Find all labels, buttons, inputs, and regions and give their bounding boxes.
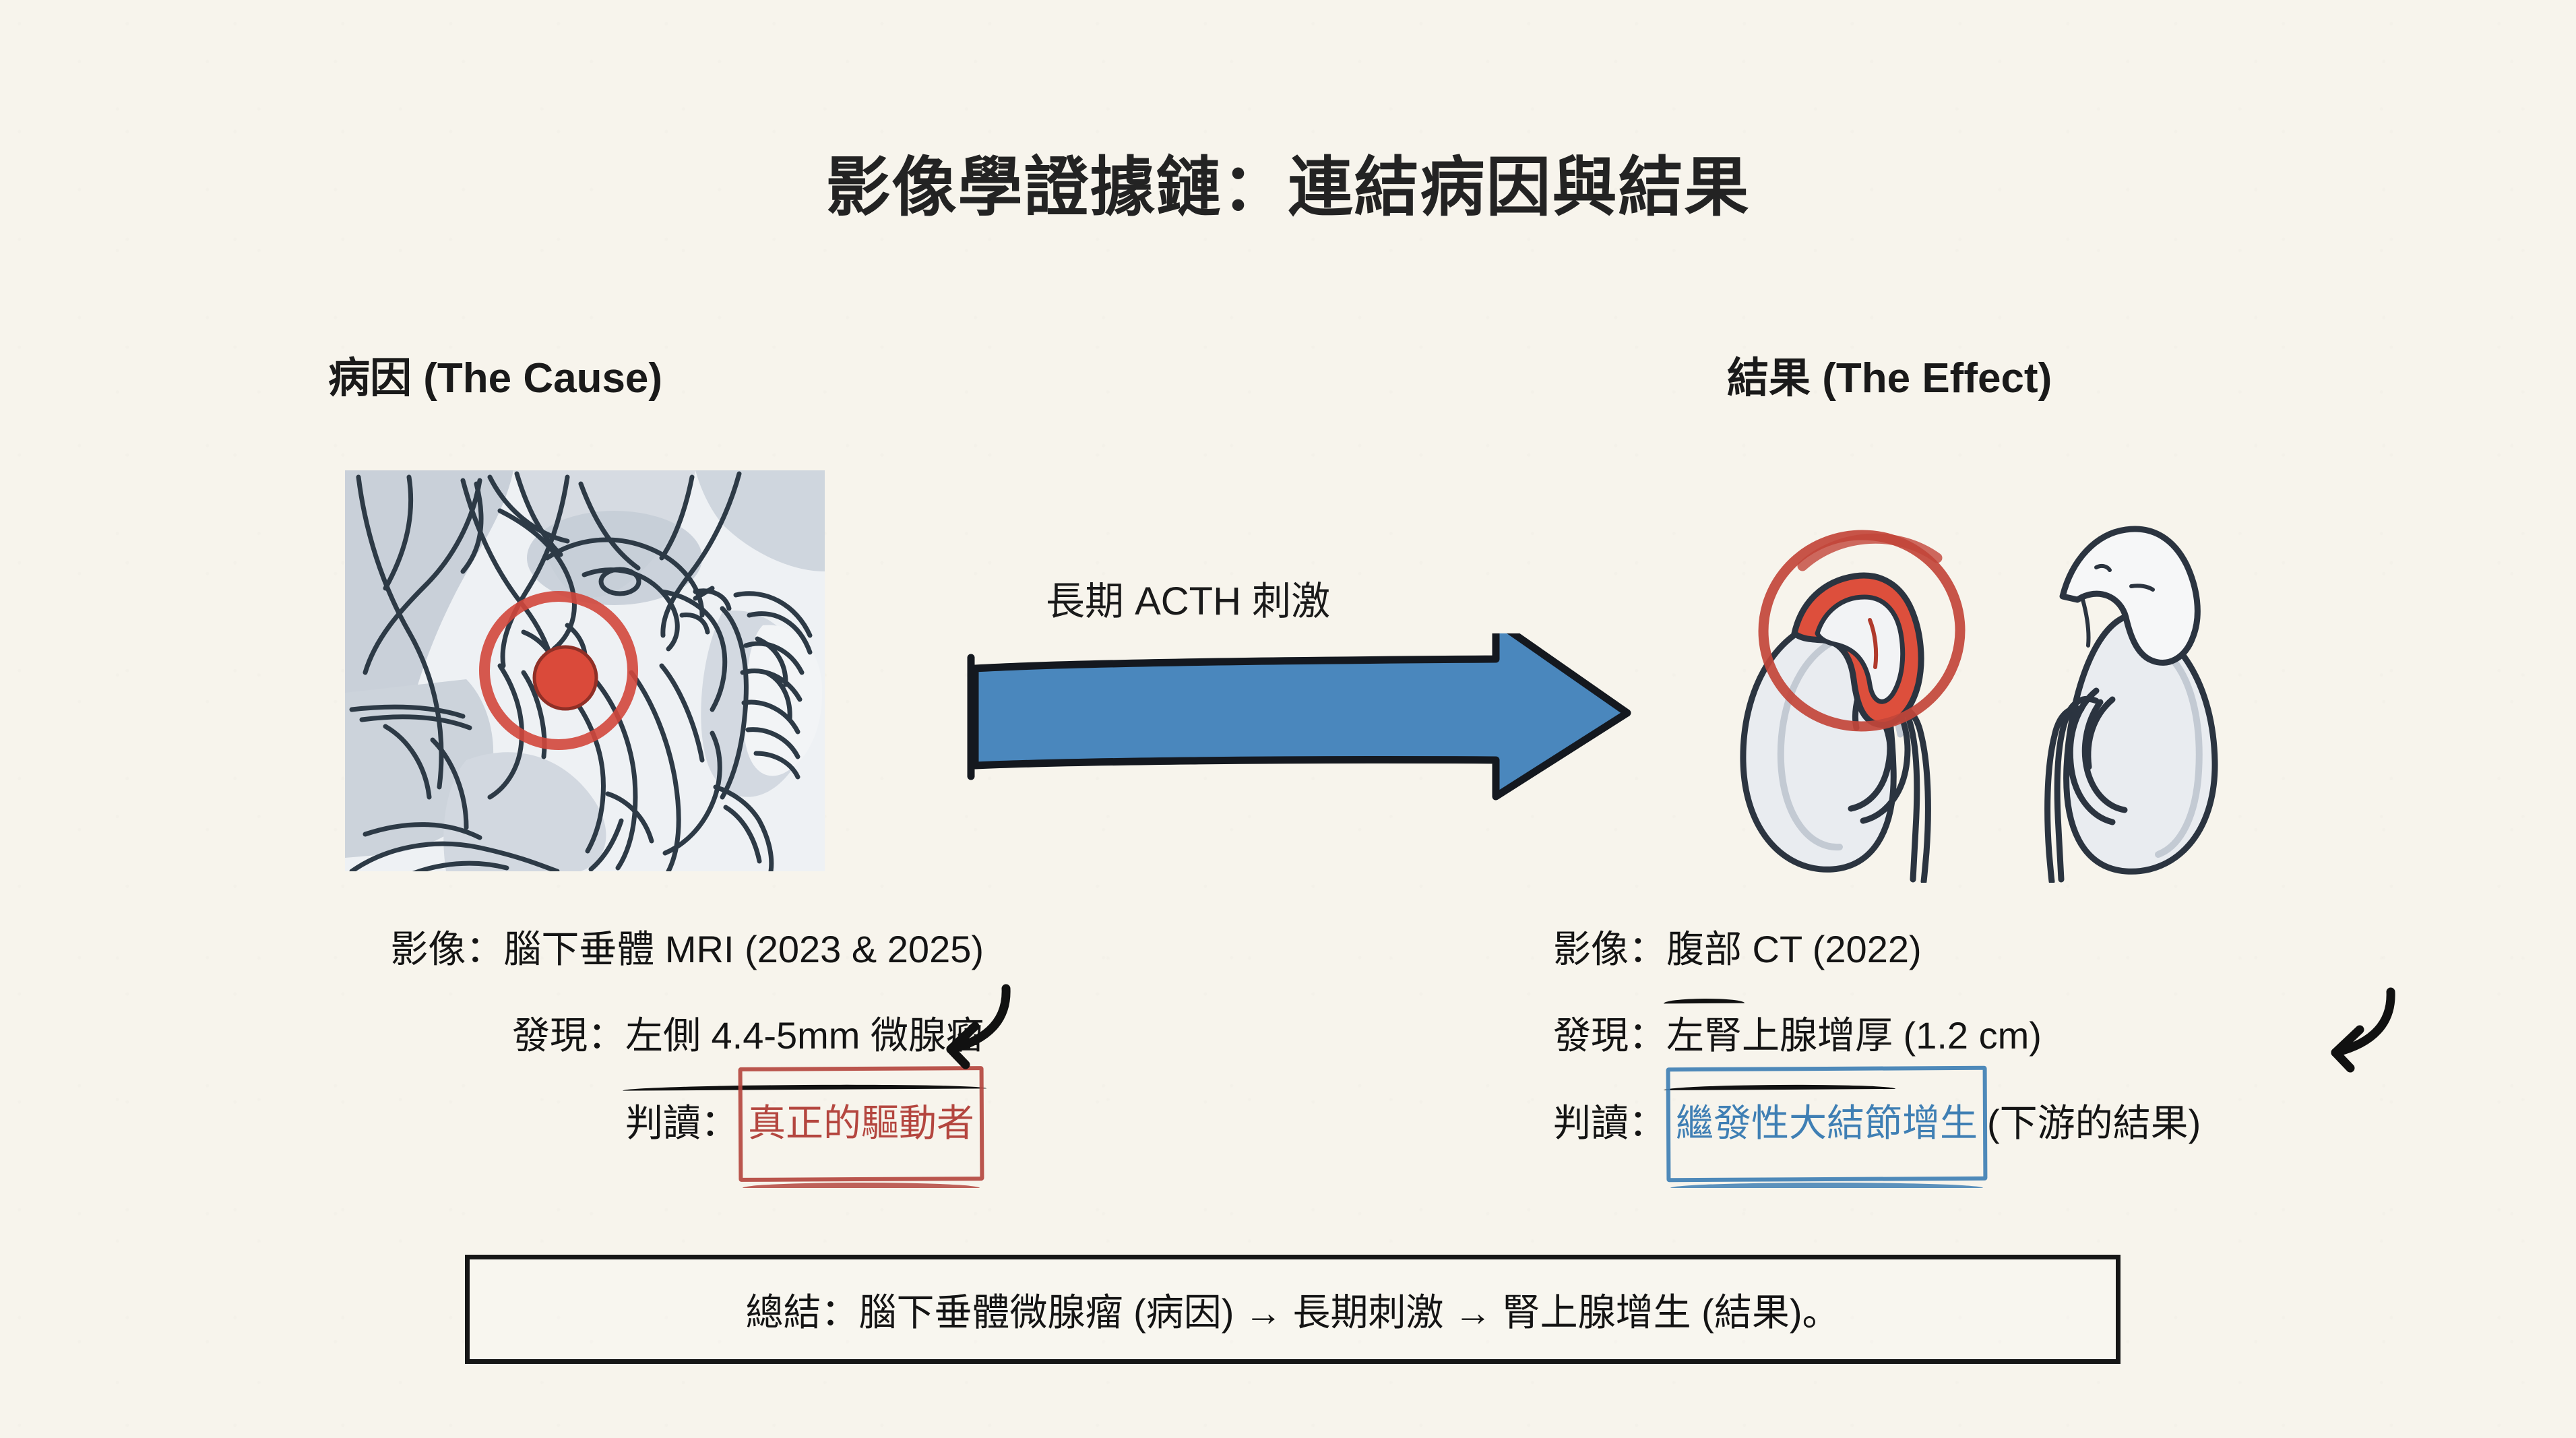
effect-reading-suffix: (下游的結果) <box>1987 1102 2201 1144</box>
effect-image-value-underlined: 腹部 <box>1666 906 1742 993</box>
effect-image-label: 影像： <box>1553 928 1666 970</box>
cause-image-line: 影像：腦下垂體 MRI (2023 & 2025) <box>155 906 984 993</box>
cause-column-heading: 病因 (The Cause) <box>328 344 662 404</box>
effect-captions: 影像：腹部 CT (2022) 發現：左腎上腺增厚 (1.2 cm) 判讀：繼發… <box>1553 906 2429 1168</box>
effect-finding-line: 發現：左腎上腺增厚 (1.2 cm) <box>1553 993 2429 1079</box>
flow-arrow <box>960 633 1641 802</box>
cause-finding-label: 發現： <box>512 1014 625 1057</box>
cause-image-label: 影像： <box>390 928 503 970</box>
effect-finding-label: 發現： <box>1553 1014 1666 1057</box>
cause-finding-line: 發現：左側 4.4-5mm 微腺瘤 <box>155 993 984 1079</box>
effect-image-value-rest: CT (2022) <box>1742 928 1922 970</box>
cause-captions: 影像：腦下垂體 MRI (2023 & 2025) 發現：左側 4.4-5mm … <box>155 906 984 1168</box>
cause-reading-label: 判讀： <box>625 1102 739 1144</box>
cause-image-value: 腦下垂體 MRI (2023 & 2025) <box>503 928 984 970</box>
flow-arrow-label: 長期 ACTH 刺激 <box>1046 569 1330 626</box>
effect-column-heading: 結果 (The Effect) <box>1727 344 2052 404</box>
page-title: 影像學證據鏈：連結病因與結果 <box>0 135 2576 228</box>
effect-reading-value: 繼發性大結節增生 <box>1666 1079 1987 1168</box>
effect-pointer-arrow-icon <box>2311 970 2480 1098</box>
cause-pointer-arrow-icon <box>926 967 1095 1095</box>
kidneys-adrenal-illustration <box>1722 465 2261 883</box>
cause-reading-line: 判讀：真正的驅動者 <box>155 1079 984 1168</box>
effect-reading-label: 判讀： <box>1553 1102 1666 1144</box>
effect-reading-line: 判讀：繼發性大結節增生(下游的結果) <box>1553 1079 2429 1168</box>
summary-box: 總結：腦下垂體微腺瘤 (病因) → 長期刺激 → 腎上腺增生 (結果)。 <box>465 1255 2121 1364</box>
effect-image-line: 影像：腹部 CT (2022) <box>1553 906 2429 993</box>
pituitary-mri-illustration <box>345 470 825 871</box>
summary-text: 總結：腦下垂體微腺瘤 (病因) → 長期刺激 → 腎上腺增生 (結果)。 <box>746 1282 1840 1337</box>
effect-finding-value-rest: (1.2 cm) <box>1893 1014 2042 1057</box>
